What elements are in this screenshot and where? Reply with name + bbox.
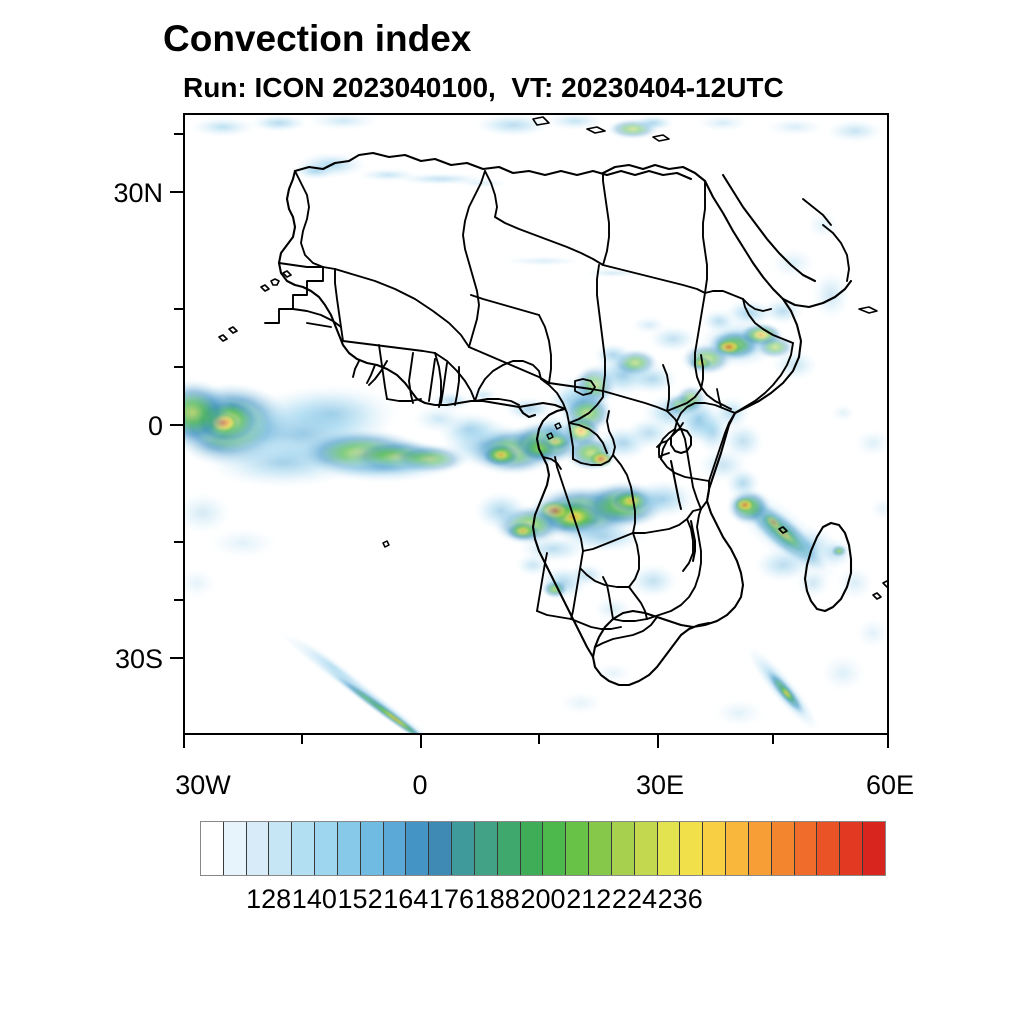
map-plot-area[interactable]	[183, 113, 889, 735]
x-tick-30w	[183, 735, 185, 748]
colorbar-cell	[475, 822, 498, 875]
colorbar-cell	[658, 822, 681, 875]
y-axis-label-0: 0	[95, 411, 163, 442]
colorbar-cell	[361, 822, 384, 875]
colorbar-cell	[429, 822, 452, 875]
colorbar-cell	[749, 822, 772, 875]
y-tick-30n	[170, 191, 183, 193]
colorbar-cell	[703, 822, 726, 875]
colorbar-tick-label: 152	[338, 884, 383, 915]
colorbar-tick-label: 212	[566, 884, 611, 915]
colorbar-tick-label: 140	[292, 884, 337, 915]
colorbar-cell	[338, 822, 361, 875]
x-axis-label-30e: 30E	[620, 770, 700, 801]
colorbar[interactable]	[200, 821, 886, 876]
colorbar-cell	[612, 822, 635, 875]
colorbar-cell	[840, 822, 863, 875]
x-axis-label-60e: 60E	[850, 770, 930, 801]
y-tick-15s-minor	[174, 541, 183, 543]
y-tick-30s	[170, 657, 183, 659]
colorbar-cell	[498, 822, 521, 875]
colorbar-cell	[292, 822, 315, 875]
page-subtitle: Run: ICON 2023040100, VT: 20230404-12UTC	[183, 72, 784, 104]
y-tick-15n-minor	[174, 308, 183, 310]
colorbar-cell	[384, 822, 407, 875]
colorbar-cell	[817, 822, 840, 875]
map-canvas	[183, 113, 889, 735]
colorbar-tick-label: 176	[429, 884, 474, 915]
colorbar-cell	[406, 822, 429, 875]
colorbar-tick-label: 224	[612, 884, 657, 915]
colorbar-cell	[726, 822, 749, 875]
y-tick-top-minor	[174, 133, 183, 135]
colorbar-cell	[772, 822, 795, 875]
colorbar-cell	[635, 822, 658, 875]
colorbar-tick-label: 188	[475, 884, 520, 915]
colorbar-cell	[521, 822, 544, 875]
x-tick-60e	[887, 735, 889, 748]
x-tick-15e-minor	[538, 735, 540, 744]
colorbar-tick-label: 128	[246, 884, 291, 915]
colorbar-cells[interactable]	[200, 821, 886, 876]
colorbar-cell	[680, 822, 703, 875]
colorbar-cell	[224, 822, 247, 875]
y-axis-label-30s: 30S	[95, 644, 163, 675]
colorbar-cell	[452, 822, 475, 875]
colorbar-cell	[795, 822, 818, 875]
page-title: Convection index	[163, 18, 471, 60]
y-tick-bottom-minor	[174, 599, 183, 601]
colorbar-cell	[247, 822, 270, 875]
colorbar-cell	[269, 822, 292, 875]
colorbar-cell	[566, 822, 589, 875]
y-tick-0	[170, 424, 183, 426]
colorbar-cell	[863, 822, 885, 875]
x-tick-0	[420, 735, 422, 748]
colorbar-cell	[543, 822, 566, 875]
colorbar-tick-label: 236	[658, 884, 703, 915]
colorbar-cell	[589, 822, 612, 875]
y-tick-366-minor	[174, 366, 183, 368]
colorbar-tick-label: 200	[520, 884, 565, 915]
colorbar-cell	[315, 822, 338, 875]
colorbar-cell	[201, 822, 224, 875]
x-axis-label-30w: 30W	[163, 770, 243, 801]
x-tick-15w-minor	[301, 735, 303, 744]
colorbar-tick-label: 164	[383, 884, 428, 915]
x-tick-45e-minor	[772, 735, 774, 744]
x-axis-label-0: 0	[400, 770, 440, 801]
y-axis-label-30n: 30N	[95, 178, 163, 209]
x-tick-30e	[657, 735, 659, 748]
